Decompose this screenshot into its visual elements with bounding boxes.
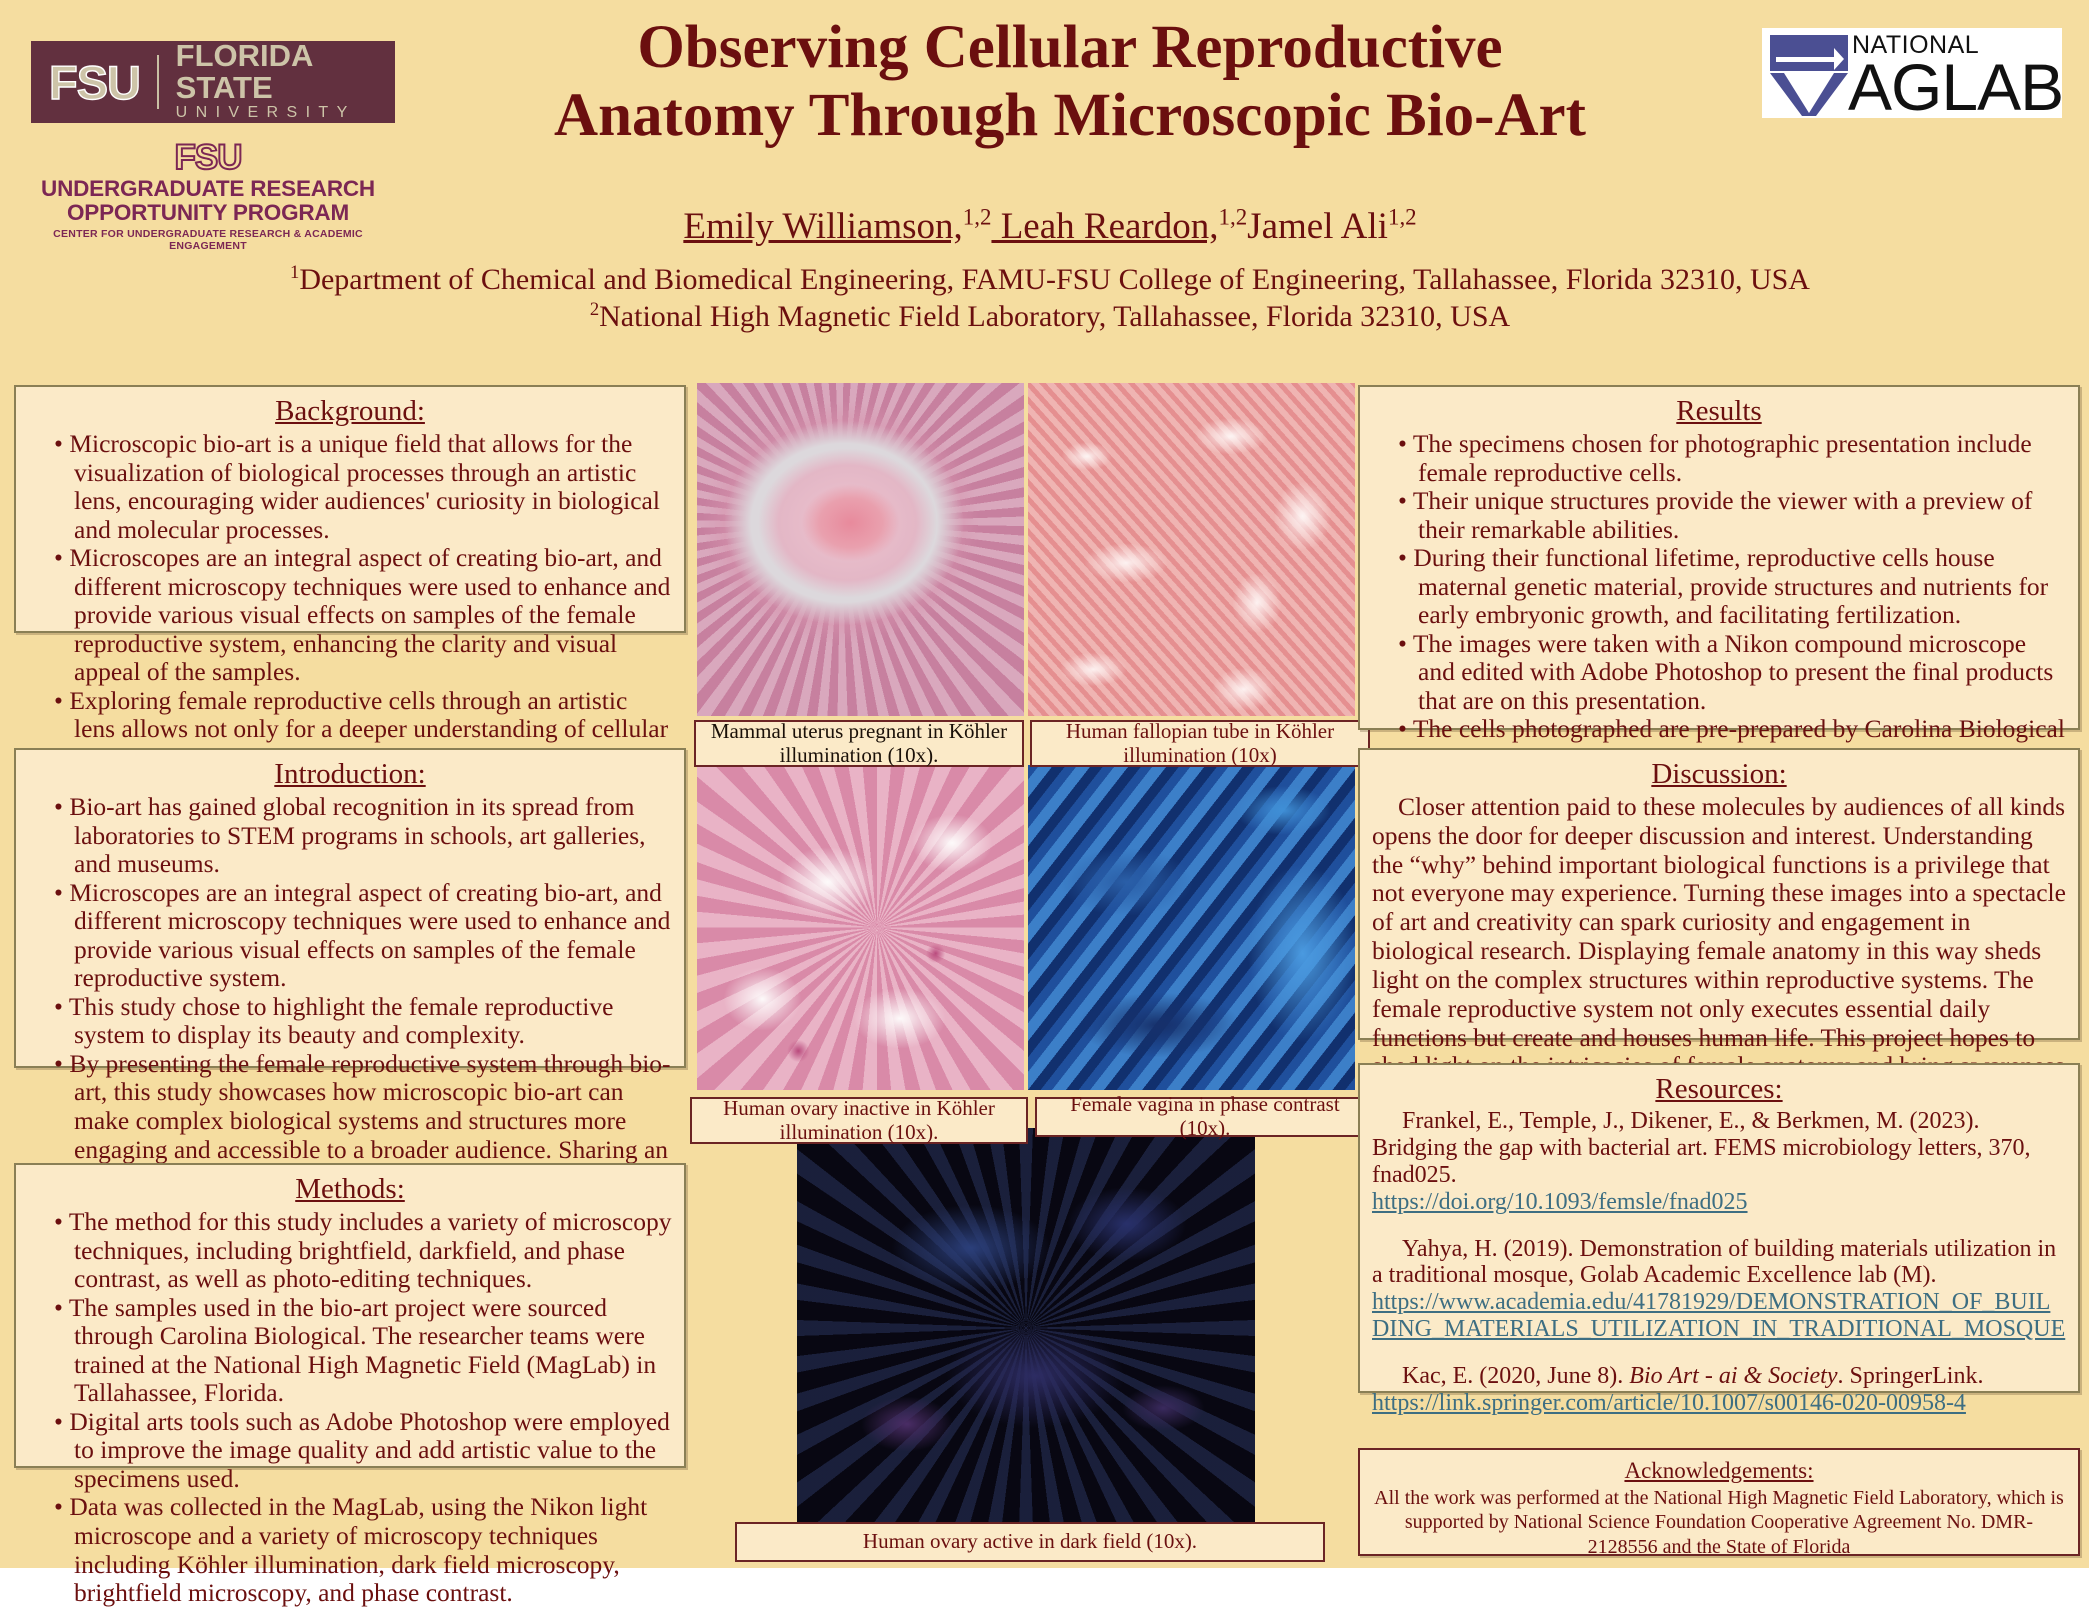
reference-2-link[interactable]: https://www.academia.edu/41781929/DEMONS… bbox=[1372, 1289, 2066, 1343]
affiliation-1: 1Department of Chemical and Biomedical E… bbox=[150, 262, 1950, 299]
figure-human-ovary-inactive bbox=[697, 765, 1024, 1090]
list-item: Microscopes are an integral aspect of cr… bbox=[54, 544, 672, 687]
discussion-title: Discussion: bbox=[1372, 758, 2066, 791]
micrograph-image bbox=[697, 383, 1024, 716]
figure-caption-mammal-uterus: Mammal uterus pregnant in Köhler illumin… bbox=[694, 720, 1024, 767]
reference-3-citation-pre: Kac, E. (2020, June 8). bbox=[1402, 1363, 1629, 1389]
title-line-2: Anatomy Through Microscopic Bio-Art bbox=[400, 82, 1740, 150]
fsu-wordmark-icon: FSU bbox=[49, 55, 140, 110]
author-3-affil-marker: 1,2 bbox=[1388, 205, 1417, 230]
reference-2-citation: Yahya, H. (2019). Demonstration of build… bbox=[1372, 1236, 2066, 1290]
figure-caption-ovary-inactive: Human ovary inactive in Köhler illuminat… bbox=[690, 1097, 1028, 1144]
reference-1: Frankel, E., Temple, J., Dikener, E., & … bbox=[1372, 1108, 2066, 1216]
list-item: During their functional lifetime, reprod… bbox=[1398, 544, 2066, 630]
list-item: Data was collected in the MagLab, using … bbox=[54, 1493, 672, 1607]
section-methods: Methods: The method for this study inclu… bbox=[14, 1163, 686, 1468]
maglab-logo-text: NATIONAL AGLAB bbox=[1850, 33, 2058, 116]
figure-caption-vagina: Female vagina in phase contrast (10x). bbox=[1035, 1097, 1375, 1137]
methods-title: Methods: bbox=[28, 1173, 672, 1206]
list-item: Microscopes are an integral aspect of cr… bbox=[54, 879, 672, 993]
section-background: Background: Microscopic bio-art is a uni… bbox=[14, 385, 686, 633]
reference-3-citation-post: . SpringerLink. bbox=[1837, 1363, 1983, 1389]
urop-fsu-wordmark-icon: FSU bbox=[22, 140, 394, 177]
acknowledgements-body: All the work was performed at the Nation… bbox=[1372, 1486, 2066, 1559]
maglab-aglab-label: AGLAB bbox=[1848, 54, 2063, 120]
reference-1-link[interactable]: https://doi.org/10.1093/femsle/fnad025 bbox=[1372, 1189, 2066, 1216]
maglab-magnet-glyph bbox=[1768, 33, 1850, 116]
author-1-affil-marker: 1,2 bbox=[963, 205, 992, 230]
introduction-bullets: Bio-art has gained global recognition in… bbox=[28, 793, 672, 1193]
affiliation-1-text: Department of Chemical and Biomedical En… bbox=[299, 263, 1810, 296]
section-acknowledgements: Acknowledgements: All the work was perfo… bbox=[1358, 1448, 2080, 1556]
reference-3: Kac, E. (2020, June 8). Bio Art - ai & S… bbox=[1372, 1363, 2066, 1417]
author-1: Emily Williamson, bbox=[683, 206, 962, 247]
section-discussion: Discussion: Closer attention paid to the… bbox=[1358, 748, 2080, 1040]
fsu-logo-line1: FLORIDA STATE bbox=[176, 40, 377, 103]
section-resources: Resources: Frankel, E., Temple, J., Dike… bbox=[1358, 1063, 2080, 1393]
title-line-1: Observing Cellular Reproductive bbox=[400, 14, 1740, 82]
reference-1-citation: Frankel, E., Temple, J., Dikener, E., & … bbox=[1372, 1108, 2066, 1189]
reference-3-link[interactable]: https://link.springer.com/article/10.100… bbox=[1372, 1390, 2066, 1417]
acknowledgements-title: Acknowledgements: bbox=[1372, 1458, 2066, 1484]
figure-human-ovary-active bbox=[797, 1128, 1255, 1528]
section-results: Results The specimens chosen for photogr… bbox=[1358, 385, 2080, 730]
affiliation-2: 2National High Magnetic Field Laboratory… bbox=[150, 299, 1950, 336]
author-list: Emily Williamson,1,2 Leah Reardon,1,2Jam… bbox=[250, 205, 1850, 248]
list-item: Microscopic bio-art is a unique field th… bbox=[54, 430, 672, 544]
reference-2: Yahya, H. (2019). Demonstration of build… bbox=[1372, 1236, 2066, 1344]
urop-logo-line1: UNDERGRADUATE RESEARCH bbox=[22, 177, 394, 201]
reference-3-citation-title: Bio Art - ai & Society bbox=[1629, 1363, 1837, 1389]
micrograph-image bbox=[1028, 765, 1355, 1090]
micrograph-image bbox=[1028, 383, 1355, 716]
figure-caption-fallopian-tube: Human fallopian tube in Köhler illuminat… bbox=[1030, 720, 1370, 767]
list-item: The specimens chosen for photographic pr… bbox=[1398, 430, 2066, 487]
fsu-logo-divider bbox=[157, 55, 159, 109]
methods-bullets: The method for this study includes a var… bbox=[28, 1208, 672, 1608]
author-2: Leah Reardon, bbox=[991, 206, 1218, 247]
affiliation-2-text: National High Magnetic Field Laboratory,… bbox=[599, 300, 1510, 333]
list-item: Digital arts tools such as Adobe Photosh… bbox=[54, 1408, 672, 1494]
resources-title: Resources: bbox=[1372, 1073, 2066, 1106]
figure-female-vagina bbox=[1028, 765, 1355, 1090]
fsu-logo-line2: UNIVERSITY bbox=[176, 103, 377, 124]
results-title: Results bbox=[1372, 395, 2066, 428]
poster-header: FSU FLORIDA STATE UNIVERSITY FSU UNDERGR… bbox=[0, 0, 2089, 368]
affiliations: 1Department of Chemical and Biomedical E… bbox=[150, 262, 1950, 335]
maglab-m-icon bbox=[1768, 33, 1850, 116]
list-item: The method for this study includes a var… bbox=[54, 1208, 672, 1294]
fsu-logo: FSU FLORIDA STATE UNIVERSITY bbox=[31, 41, 395, 123]
affiliation-2-marker: 2 bbox=[590, 299, 599, 320]
background-bullets: Microscopic bio-art is a unique field th… bbox=[28, 430, 672, 801]
author-3: Jamel Ali bbox=[1247, 206, 1388, 247]
list-item: This study chose to highlight the female… bbox=[54, 993, 672, 1050]
micrograph-image bbox=[697, 765, 1024, 1090]
list-item: The samples used in the bio-art project … bbox=[54, 1294, 672, 1408]
section-introduction: Introduction: Bio-art has gained global … bbox=[14, 748, 686, 1068]
list-item: The images were taken with a Nikon compo… bbox=[1398, 630, 2066, 716]
introduction-title: Introduction: bbox=[28, 758, 672, 791]
page-title: Observing Cellular Reproductive Anatomy … bbox=[400, 14, 1740, 151]
figure-caption-ovary-active: Human ovary active in dark field (10x). bbox=[735, 1522, 1325, 1562]
list-item: Their unique structures provide the view… bbox=[1398, 487, 2066, 544]
figure-human-fallopian-tube bbox=[1028, 383, 1355, 716]
list-item: Bio-art has gained global recognition in… bbox=[54, 793, 672, 879]
affiliation-1-marker: 1 bbox=[290, 262, 299, 283]
maglab-logo: NATIONAL AGLAB bbox=[1762, 28, 2062, 118]
author-2-affil-marker: 1,2 bbox=[1219, 205, 1248, 230]
reference-3-citation: Kac, E. (2020, June 8). Bio Art - ai & S… bbox=[1372, 1363, 2066, 1390]
micrograph-image bbox=[797, 1128, 1255, 1528]
figure-mammal-uterus bbox=[697, 383, 1024, 716]
results-bullets: The specimens chosen for photographic pr… bbox=[1372, 430, 2066, 773]
background-title: Background: bbox=[28, 395, 672, 428]
fsu-logo-text: FLORIDA STATE UNIVERSITY bbox=[176, 40, 377, 124]
